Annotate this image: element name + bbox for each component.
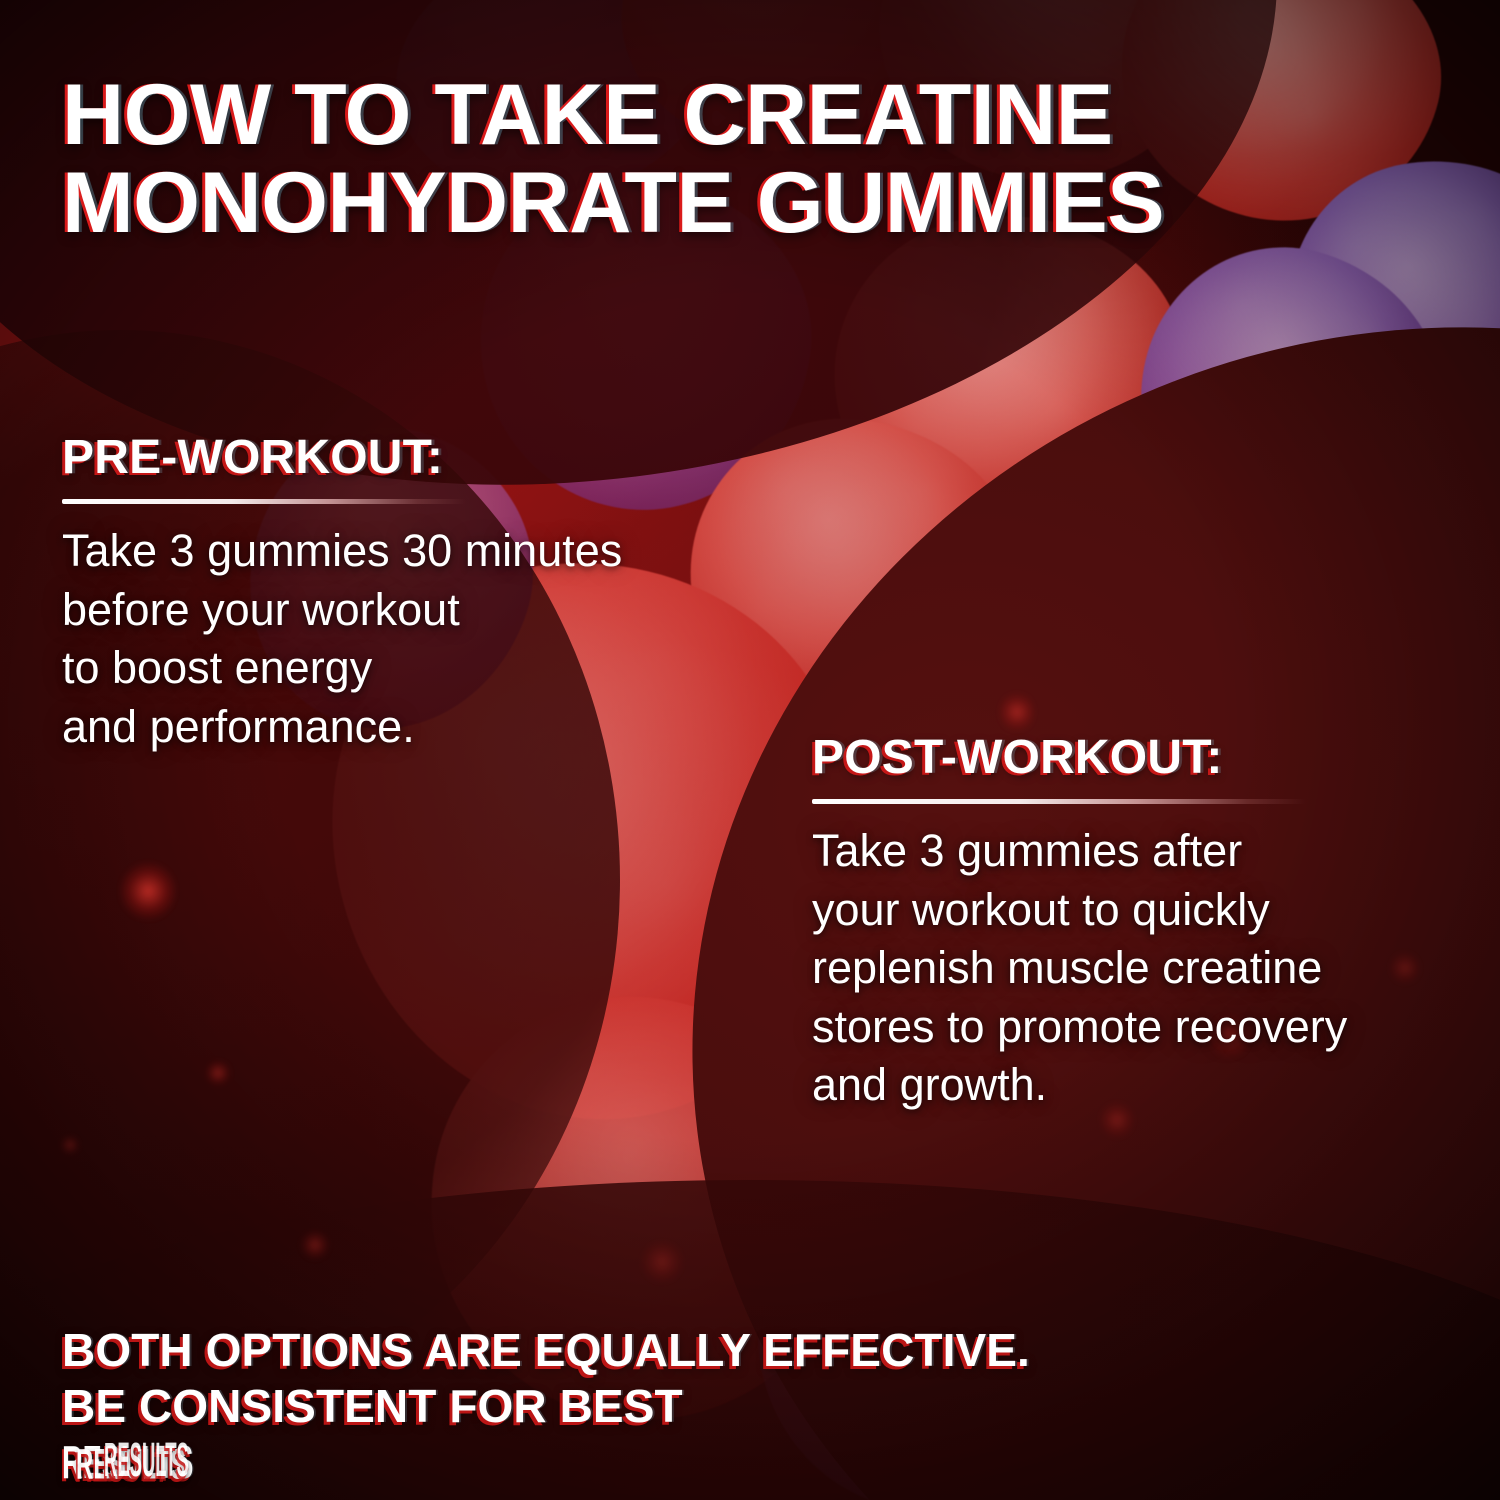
section-body-post-workout: Take 3 gummies after your workout to qui… xyxy=(812,822,1472,1115)
headline-line-2: MONOHYDRATE GUMMIES xyxy=(62,160,1472,248)
glitch-layer-3: RESULTS xyxy=(104,1430,189,1489)
page-title: HOW TO TAKE CREATINE MONOHYDRATE GUMMIES xyxy=(62,72,1472,247)
headline-line-1: HOW TO TAKE CREATINE xyxy=(62,67,1113,163)
footer-line-2-prefix: BE CONSISTENT FOR BEST xyxy=(62,1378,1030,1434)
footer-glitch-word: RESULTSRESULTSRESULTS xyxy=(62,1434,1030,1490)
footer-callout: BOTH OPTIONS ARE EQUALLY EFFECTIVE. BE C… xyxy=(62,1322,1030,1490)
section-rule-pre-workout xyxy=(62,499,466,504)
footer-line-1: BOTH OPTIONS ARE EQUALLY EFFECTIVE. xyxy=(62,1322,1030,1378)
section-rule-post-workout xyxy=(812,799,1306,804)
post-body-line-3: replenish muscle creatine xyxy=(812,939,1472,998)
pre-body-line-3: to boost energy xyxy=(62,639,762,698)
poster-content: HOW TO TAKE CREATINE MONOHYDRATE GUMMIES… xyxy=(0,0,1500,1500)
section-heading-pre-workout: PRE-WORKOUT: xyxy=(62,430,762,485)
section-heading-post-workout: POST-WORKOUT: xyxy=(812,730,1472,785)
pre-body-line-1: Take 3 gummies 30 minutes xyxy=(62,522,762,581)
pre-body-line-4: and performance. xyxy=(62,698,762,757)
footer-line-2: BE CONSISTENT FOR BEST RESULTSRESULTSRES… xyxy=(62,1378,1030,1490)
post-body-line-5: and growth. xyxy=(812,1056,1472,1115)
post-body-line-1: Take 3 gummies after xyxy=(812,822,1472,881)
section-pre-workout: PRE-WORKOUT: Take 3 gummies 30 minutes b… xyxy=(62,430,762,756)
pre-body-line-2: before your workout xyxy=(62,581,762,640)
post-body-line-2: your workout to quickly xyxy=(812,881,1472,940)
section-body-pre-workout: Take 3 gummies 30 minutes before your wo… xyxy=(62,522,762,756)
section-post-workout: POST-WORKOUT: Take 3 gummies after your … xyxy=(812,730,1472,1115)
post-body-line-4: stores to promote recovery xyxy=(812,998,1472,1057)
poster-root: HOW TO TAKE CREATINE MONOHYDRATE GUMMIES… xyxy=(0,0,1500,1500)
